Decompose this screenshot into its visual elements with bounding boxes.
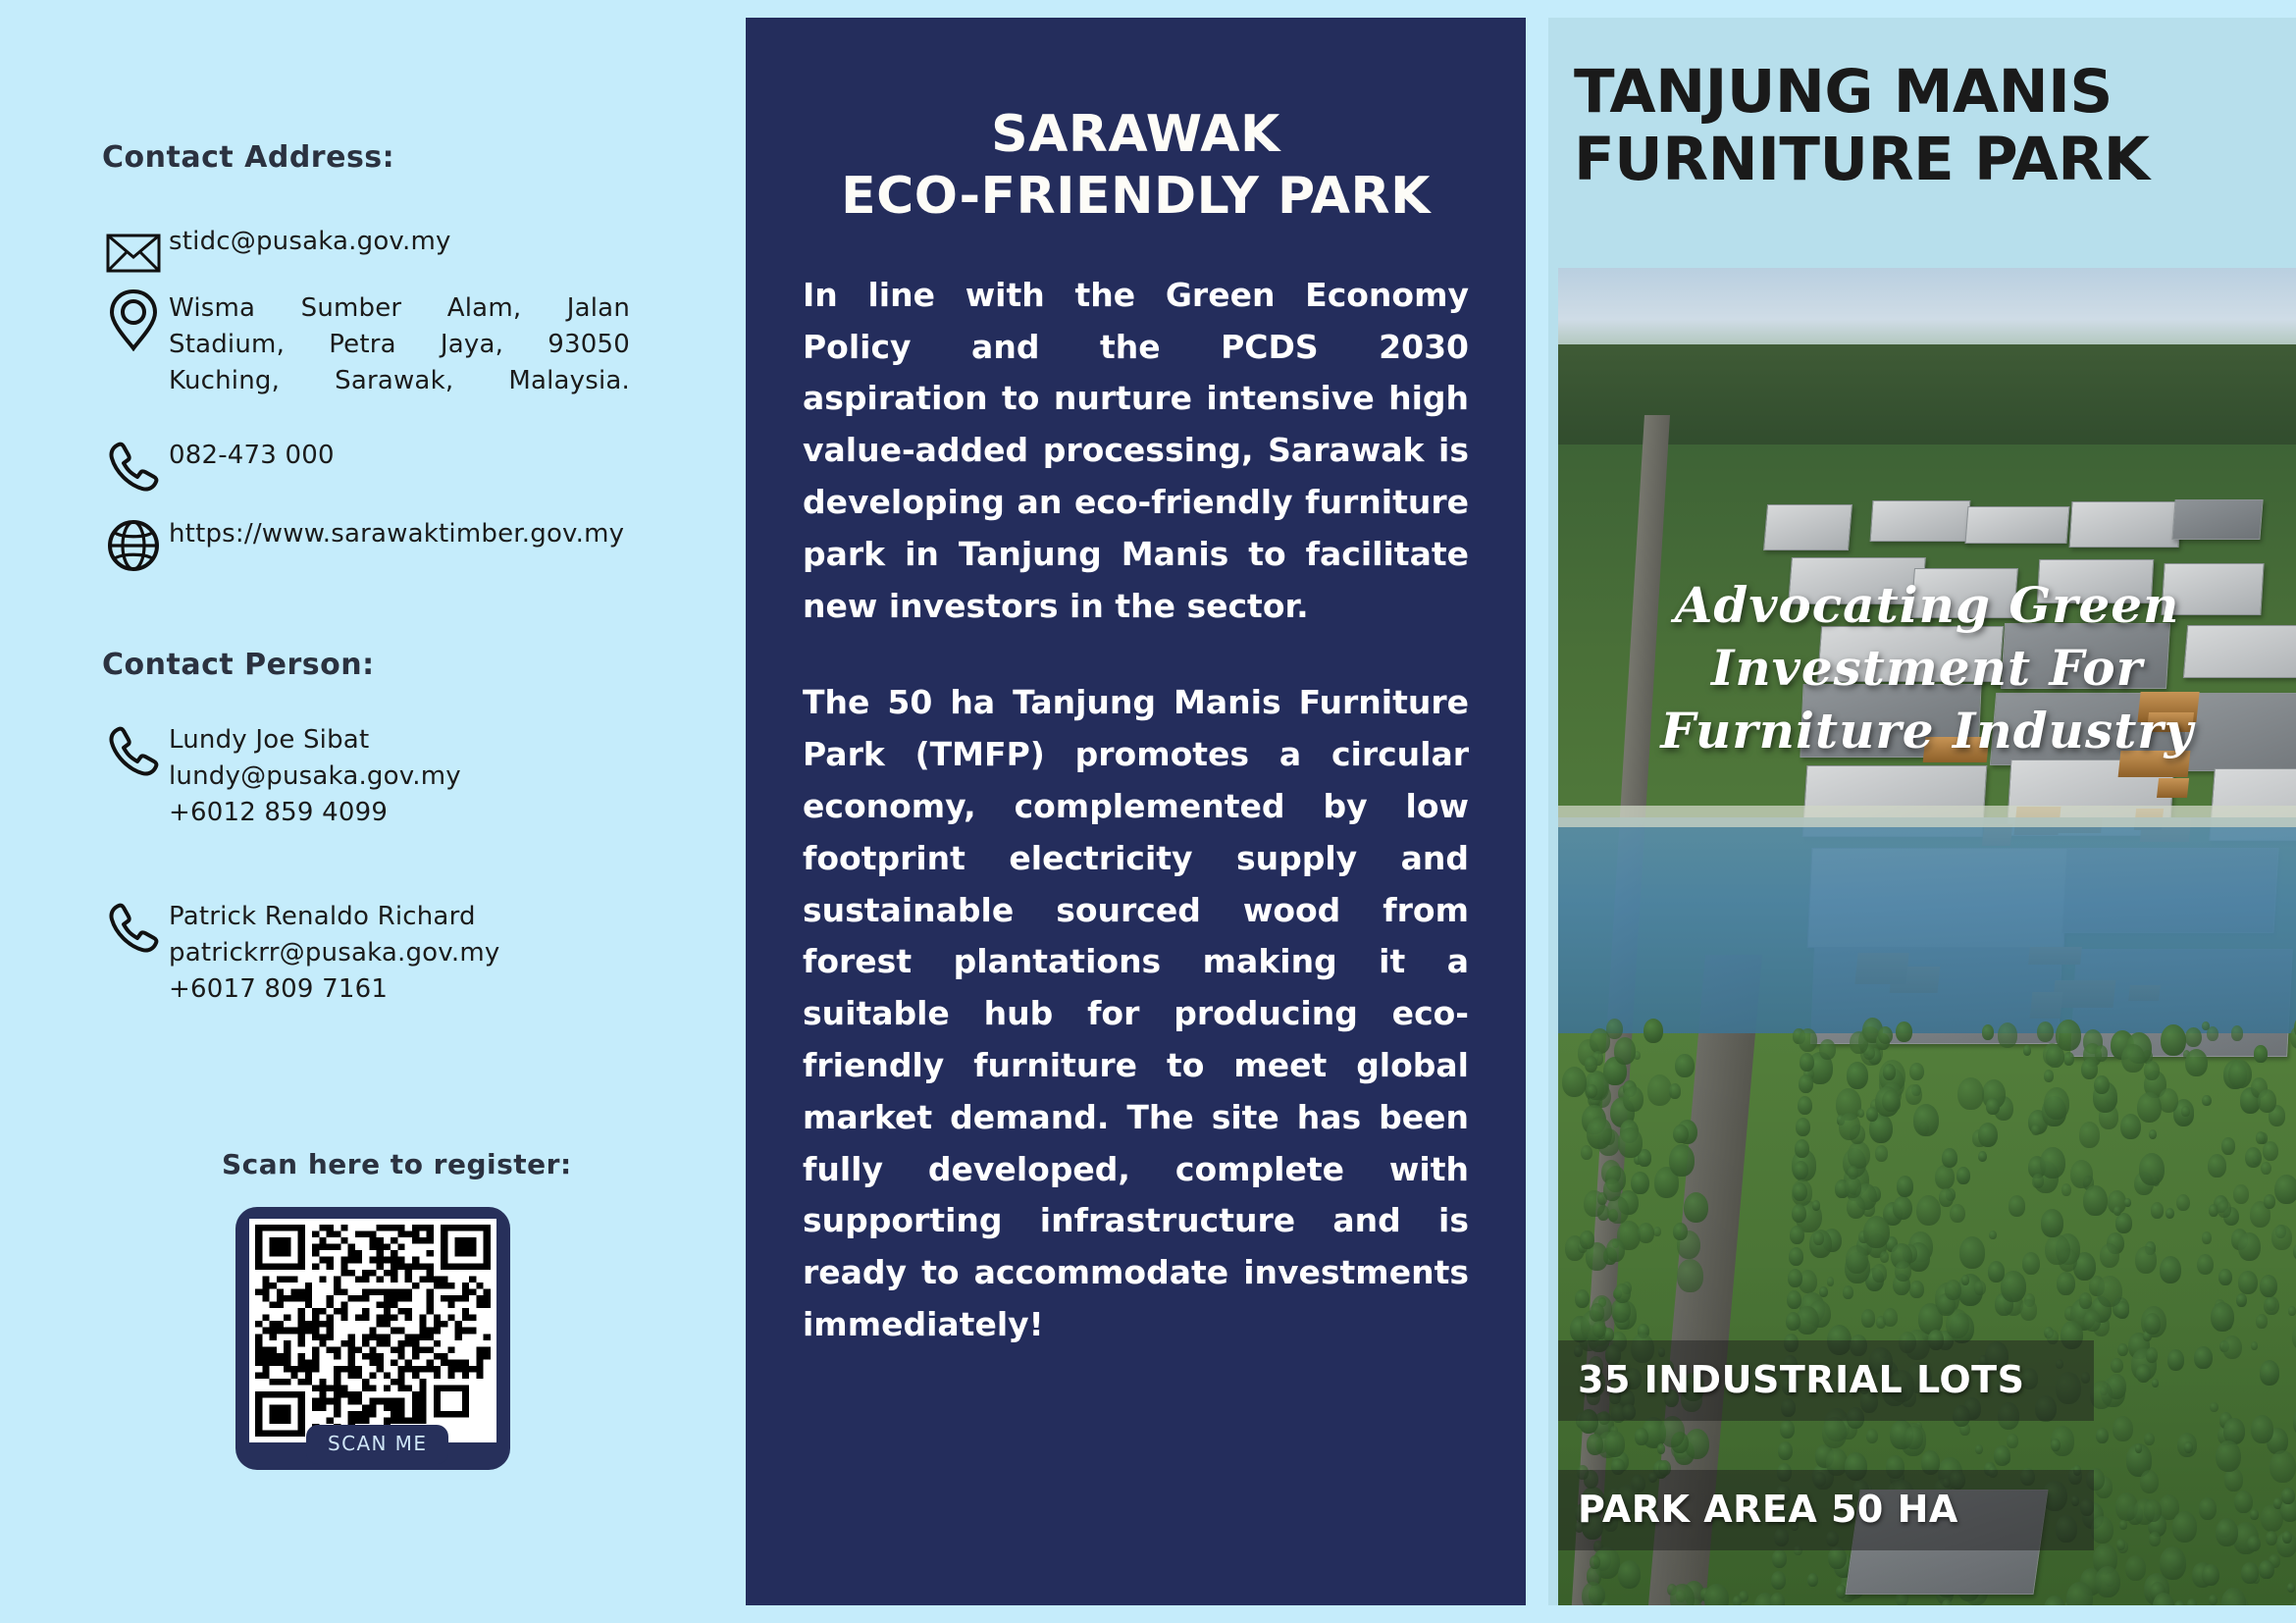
person-name: Lundy Joe Sibat [169, 725, 369, 755]
phone-icon [98, 716, 169, 787]
center-panel: SARAWAK ECO-FRIENDLY PARK In line with t… [746, 18, 1526, 1605]
contact-person-1[interactable]: Lundy Joe Sibat lundy@pusaka.gov.my +601… [98, 716, 461, 831]
aerial-photo: Advocating Green Investment For Furnitur… [1558, 268, 2296, 1605]
address-value: Wisma Sumber Alam, Jalan Stadium, Petra … [169, 285, 630, 399]
envelope-icon [98, 218, 169, 288]
globe-icon [98, 510, 169, 581]
person-email: patrickrr@pusaka.gov.my [169, 938, 499, 968]
right-title-line-2: FURNITURE PARK [1574, 125, 2150, 194]
qr-code-canvas [255, 1225, 491, 1437]
photo-script-tagline: Advocating Green Investment For Furnitur… [1558, 574, 2296, 762]
person-phone: +6017 809 7161 [169, 974, 388, 1004]
right-panel: TANJUNG MANIS FURNITURE PARK Advocating … [1548, 18, 2296, 1605]
contact-row-phone[interactable]: 082-473 000 [98, 432, 335, 502]
phone-icon [98, 893, 169, 964]
scan-me-badge: SCAN ME [306, 1425, 448, 1464]
center-paragraph-1: In line with the Green Economy Policy an… [803, 270, 1469, 633]
contact-address-heading: Contact Address: [102, 140, 394, 175]
script-line-2: Furniture Industry [1660, 702, 2193, 759]
contact-person-2-details: Patrick Renaldo Richard patrickrr@pusaka… [169, 893, 499, 1008]
phone-icon [98, 432, 169, 502]
contact-row-email[interactable]: stidc@pusaka.gov.my [98, 218, 451, 288]
person-phone: +6012 859 4099 [169, 798, 388, 827]
location-pin-icon [98, 285, 169, 355]
person-email: lundy@pusaka.gov.my [169, 761, 461, 791]
qr-code[interactable]: SCAN ME [235, 1207, 510, 1470]
script-line-1: Advocating Green Investment For [1675, 576, 2180, 697]
contact-row-website[interactable]: https://www.sarawaktimber.gov.my [98, 510, 624, 581]
right-title-line-1: TANJUNG MANIS [1574, 57, 2113, 127]
phone-value: 082-473 000 [169, 432, 335, 474]
contact-person-1-details: Lundy Joe Sibat lundy@pusaka.gov.my +601… [169, 716, 461, 831]
email-value: stidc@pusaka.gov.my [169, 218, 451, 260]
badge-industrial-lots: 35 INDUSTRIAL LOTS [1558, 1340, 2094, 1421]
website-value: https://www.sarawaktimber.gov.my [169, 510, 624, 552]
contact-panel: Contact Address: stidc@pusaka.gov.my Wis… [0, 0, 746, 1623]
contact-person-2[interactable]: Patrick Renaldo Richard patrickrr@pusaka… [98, 893, 499, 1008]
person-name: Patrick Renaldo Richard [169, 902, 476, 931]
badge-park-area: PARK AREA 50 HA [1558, 1470, 2094, 1550]
center-title-line-1: SARAWAK [991, 105, 1280, 164]
right-title: TANJUNG MANIS FURNITURE PARK [1548, 18, 2296, 194]
center-title: SARAWAK ECO-FRIENDLY PARK [803, 18, 1469, 229]
center-paragraph-2: The 50 ha Tanjung Manis Furniture Park (… [803, 677, 1469, 1350]
qr-code-image [249, 1219, 496, 1442]
contact-person-heading: Contact Person: [102, 648, 375, 682]
center-title-line-2: ECO-FRIENDLY PARK [841, 167, 1431, 226]
contact-row-address: Wisma Sumber Alam, Jalan Stadium, Petra … [98, 285, 630, 399]
scan-here-heading: Scan here to register: [222, 1148, 572, 1180]
